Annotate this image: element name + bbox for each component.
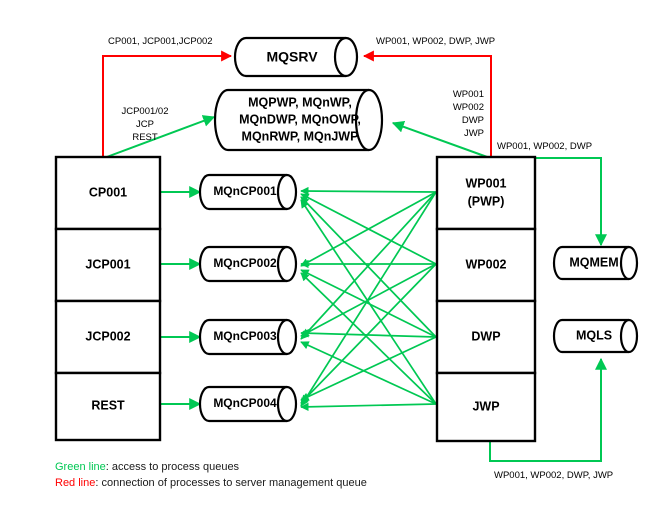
green-edge-dwp-to-mqncp004 (301, 337, 436, 400)
edge-label-mqmem: WP001, WP002, DWP (497, 141, 592, 152)
diagram-canvas: MQSRV MQPWP, MQnWP, MQnDWP, MQnOWP, MQnR… (0, 0, 663, 516)
right-box-wp001-label-line2: (PWP) (468, 194, 505, 208)
right-worker-column: WP001 (PWP) WP002 DWP JWP (437, 157, 535, 441)
left-box-rest-label: REST (91, 398, 125, 412)
legend-red-desc: : connection of processes to server mana… (95, 477, 367, 489)
green-edge-group-left-to-queues (160, 192, 200, 404)
node-mqncp002[interactable]: MQnCP002 (200, 247, 296, 281)
legend-green-row: Green line: access to process queues (55, 461, 240, 473)
node-mqncp004[interactable]: MQnCP004 (200, 387, 296, 421)
edge-label-left-green-line2: JCP (136, 119, 154, 130)
edge-label-right-green-line2: WP002 (453, 102, 484, 113)
legend-red-row: Red line: connection of processes to ser… (55, 477, 367, 489)
left-box-jcp002-label: JCP002 (85, 329, 130, 343)
process-queue-bundle-line1: MQPWP, MQnWP, (248, 95, 352, 109)
right-box-wp001[interactable] (437, 157, 535, 229)
green-edge-mesh-workers-to-queues (301, 191, 436, 407)
green-edge-wp002-to-mqncp001 (301, 194, 436, 264)
node-mqls-label: MQLS (576, 328, 612, 342)
green-edge-left-to-process-queues (104, 117, 214, 158)
edge-label-mqls: WP001, WP002, DWP, JWP (494, 470, 613, 481)
right-box-wp002-label: WP002 (466, 257, 507, 271)
node-mqls[interactable]: MQLS (554, 320, 637, 352)
left-process-column: CP001 JCP001 JCP002 REST (56, 157, 160, 440)
node-mqncp001[interactable]: MQnCP001 (200, 175, 296, 209)
node-mqncp003-label: MQnCP003 (213, 329, 277, 343)
legend-red-key: Red line (55, 477, 95, 489)
node-mqmem-label: MQMEM (569, 255, 618, 269)
right-box-dwp-label: DWP (471, 329, 500, 343)
edge-label-left-green-line1: JCP001/02 (121, 106, 168, 117)
green-edge-jwp-to-mqncp002 (301, 273, 436, 404)
node-process-queue-bundle[interactable]: MQPWP, MQnWP, MQnDWP, MQnOWP, MQnRWP, MQ… (215, 90, 382, 150)
legend-green-desc: : access to process queues (106, 461, 240, 473)
edge-label-right-green-line3: DWP (462, 115, 484, 126)
node-mqncp002-label: MQnCP002 (213, 256, 277, 270)
green-edge-wp001-to-mqncp001 (301, 191, 436, 192)
green-edge-jwp-to-mqncp004 (301, 404, 436, 407)
edge-label-top-right-red: WP001, WP002, DWP, JWP (376, 36, 495, 47)
edge-label-right-green-line1: WP001 (453, 89, 484, 100)
architecture-diagram: MQSRV MQPWP, MQnWP, MQnDWP, MQnOWP, MQnR… (0, 0, 663, 516)
edge-label-right-green-line4: JWP (464, 128, 484, 139)
process-queue-bundle-line3: MQnRWP, MQnJWP (242, 129, 359, 143)
node-mqsrv-label: MQSRV (266, 49, 318, 65)
node-mqncp003[interactable]: MQnCP003 (200, 320, 296, 354)
legend: Green line: access to process queues Red… (55, 461, 367, 489)
edge-label-left-green-line3: REST (132, 132, 158, 143)
node-mqncp004-label: MQnCP004 (213, 396, 277, 410)
node-mqmem[interactable]: MQMEM (554, 247, 637, 279)
edge-label-top-left-red: CP001, JCP001,JCP002 (108, 36, 213, 47)
node-mqsrv[interactable]: MQSRV (235, 38, 357, 76)
legend-green-key: Green line (55, 461, 106, 473)
right-box-wp001-label-line1: WP001 (466, 176, 507, 190)
process-queue-bundle-line2: MQnDWP, MQnOWP, (239, 112, 361, 126)
left-box-cp001-label: CP001 (89, 185, 127, 199)
left-box-jcp001-label: JCP001 (85, 257, 130, 271)
side-queue-group: MQMEM MQLS (554, 247, 637, 352)
queue-column: MQnCP001 MQnCP002 MQnCP003 MQnCP004 (200, 175, 296, 421)
node-mqncp001-label: MQnCP001 (213, 184, 277, 198)
green-edge-wp002-to-mqncp003 (301, 264, 436, 336)
right-box-jwp-label: JWP (472, 399, 499, 413)
